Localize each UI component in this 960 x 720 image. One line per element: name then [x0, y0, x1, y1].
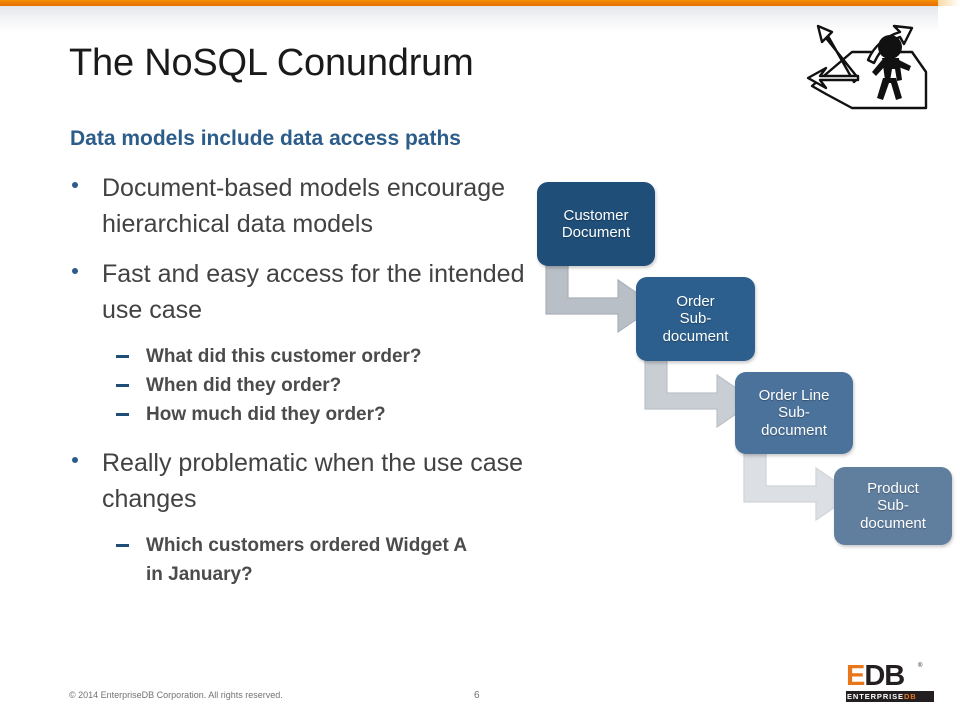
dash-icon	[116, 355, 129, 358]
nested-document-cascade-diagram: CustomerDocument OrderSub-document Order…	[530, 170, 960, 560]
diagram-box-label: OrderSub-document	[663, 293, 729, 345]
dash-icon	[116, 544, 129, 547]
sub-bullet-text: What did this customer order?	[146, 346, 422, 367]
sub-bullet-item: Which customers ordered Widget A in Janu…	[68, 531, 476, 589]
page-title: The NoSQL Conundrum	[69, 42, 474, 85]
bullet-text: Fast and easy access for the intended us…	[102, 260, 524, 324]
diagram-box-product-subdocument[interactable]: ProductSub-document	[834, 467, 952, 545]
diagram-box-order-line-subdocument[interactable]: Order LineSub-document	[735, 372, 853, 454]
dash-icon	[116, 413, 129, 416]
edb-logo: EDB ® ENTERPRISEDB	[846, 662, 936, 704]
edb-letter-e: E	[846, 660, 864, 692]
enterprisedb-prefix: ENTERPRISE	[847, 692, 904, 701]
bullet-list: Document-based models encourage hierarch…	[68, 170, 538, 598]
sub-bullet-group-2: What did this customer order? When did t…	[68, 342, 538, 429]
sub-bullet-text: When did they order?	[146, 375, 341, 396]
top-accent-bar-tail	[938, 0, 960, 6]
bullet-dot-icon	[72, 182, 78, 188]
diagram-box-label: ProductSub-document	[860, 480, 926, 532]
bullet-text: Really problematic when the use case cha…	[102, 449, 523, 513]
registered-trademark-mark: ®	[918, 663, 922, 669]
sub-bullet-text: How much did they order?	[146, 404, 386, 425]
bullet-text: Document-based models encourage hierarch…	[102, 174, 505, 238]
sub-bullet-item: What did this customer order?	[68, 342, 538, 371]
diagram-box-label: CustomerDocument	[562, 207, 630, 242]
page-subtitle: Data models include data access paths	[70, 127, 461, 151]
edb-wordmark: EDB	[846, 662, 904, 691]
sub-bullet-text: Which customers ordered Widget A in Janu…	[146, 535, 466, 585]
bullet-item-3: Really problematic when the use case cha…	[68, 445, 538, 517]
sub-bullet-item: How much did they order?	[68, 400, 538, 429]
bullet-item-1: Document-based models encourage hierarch…	[68, 170, 538, 242]
diagram-box-order-subdocument[interactable]: OrderSub-document	[636, 277, 755, 361]
bullet-dot-icon	[72, 268, 78, 274]
bullet-dot-icon	[72, 457, 78, 463]
copyright-notice: © 2014 EnterpriseDB Corporation. All rig…	[69, 690, 283, 700]
enterprisedb-wordmark-bar: ENTERPRISEDB	[846, 691, 934, 702]
diagram-box-customer-document[interactable]: CustomerDocument	[537, 182, 655, 266]
diagram-box-label: Order LineSub-document	[759, 387, 830, 439]
sub-bullet-group-3: Which customers ordered Widget A in Janu…	[68, 531, 538, 589]
bullet-item-2: Fast and easy access for the intended us…	[68, 256, 538, 328]
enterprisedb-suffix: DB	[904, 692, 917, 701]
crossroads-decision-icon	[796, 16, 938, 120]
edb-letters-db: DB	[864, 660, 904, 692]
sub-bullet-item: When did they order?	[68, 371, 538, 400]
slide-canvas: The NoSQL Conundrum Data models include …	[0, 0, 960, 720]
page-number: 6	[474, 690, 480, 701]
dash-icon	[116, 384, 129, 387]
